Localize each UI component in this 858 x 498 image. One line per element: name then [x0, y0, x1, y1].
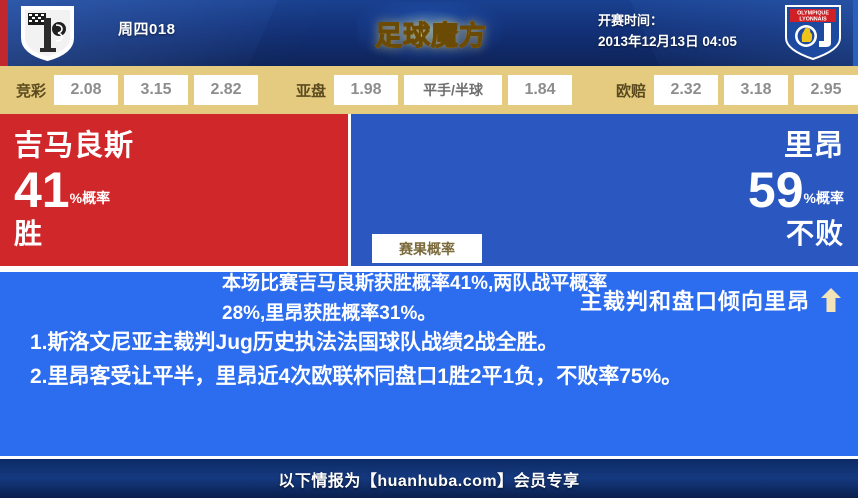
away-probability-result: 不败	[664, 217, 844, 250]
home-probability-result: 胜	[14, 217, 174, 250]
insight-list: 1.斯洛文尼亚主裁判Jug历史执法法国球队战绩2战全胜。 2.里昂客受让平半，里…	[30, 326, 840, 394]
header-bar: 周四018 足球魔方 开赛时间： 2013年12月13日 04:05 OLYMP…	[0, 0, 858, 66]
home-probability-unit: %概率	[70, 190, 110, 206]
home-probability-panel: 吉马良斯 41%概率 胜	[0, 114, 348, 266]
odds-cell[interactable]: 2.08	[54, 75, 118, 105]
brand-logo: 足球魔方	[357, 2, 505, 64]
kickoff-value: 2013年12月13日 04:05	[598, 31, 773, 52]
probability-section: 吉马良斯 41%概率 胜 里昂 59%概率 不败 赛果概率 本场比赛吉马良斯获胜…	[0, 114, 858, 266]
insight-heading: 主裁判和盘口倾向里昂	[580, 284, 810, 316]
away-probability-value: 59	[748, 162, 804, 218]
away-probability-block: 里昂 59%概率 不败	[664, 129, 844, 250]
odds-cell[interactable]: 2.95	[794, 75, 858, 105]
odds-cell[interactable]: 3.15	[124, 75, 188, 105]
odds-group-label: 亚盘	[296, 80, 326, 101]
odds-group-jingcai: 竞彩 2.08 3.15 2.82	[16, 66, 258, 114]
odds-cell[interactable]: 1.84	[508, 75, 572, 105]
list-item: 2.里昂客受让平半，里昂近4次欧联杯同盘口1胜2平1负，不败率75%。	[30, 360, 840, 394]
kickoff-time: 开赛时间： 2013年12月13日 04:05	[598, 10, 773, 52]
home-team-crest-icon	[20, 5, 75, 62]
brand-logo-text: 足球魔方	[375, 14, 487, 53]
arrow-up-icon	[820, 287, 842, 313]
away-probability-unit: %概率	[804, 190, 844, 206]
home-probability-block: 吉马良斯 41%概率 胜	[14, 129, 174, 250]
home-probability-value-row: 41%概率	[14, 165, 174, 215]
footer-bar: 以下情报为【huanhuba.com】会员专享	[0, 459, 858, 498]
odds-group-oupei: 欧赔 2.32 3.18 2.95	[616, 66, 858, 114]
match-preview-card: 周四018 足球魔方 开赛时间： 2013年12月13日 04:05 OLYMP…	[0, 0, 858, 498]
odds-group-yapan: 亚盘 1.98 平手/半球 1.84	[296, 66, 572, 114]
away-team-name: 里昂	[664, 129, 844, 163]
odds-group-label: 欧赔	[616, 80, 646, 101]
home-team-name: 吉马良斯	[14, 129, 174, 163]
svg-text:LYONNAIS: LYONNAIS	[799, 17, 827, 23]
probability-section-tag: 赛果概率	[372, 234, 482, 263]
header-left-red-stripe	[0, 0, 8, 66]
footer-text: 以下情报为【huanhuba.com】会员专享	[278, 467, 579, 491]
home-probability-value: 41	[14, 162, 70, 218]
odds-cell-handicap[interactable]: 平手/半球	[404, 75, 502, 105]
probability-summary-text: 本场比赛吉马良斯获胜概率41%,两队战平概率28%,里昂获胜概率31%。	[222, 269, 612, 329]
odds-bar: 竞彩 2.08 3.15 2.82 亚盘 1.98 平手/半球 1.84 欧赔 …	[0, 66, 858, 114]
match-number: 周四018	[118, 18, 176, 39]
odds-cell[interactable]: 2.82	[194, 75, 258, 105]
odds-group-label: 竞彩	[16, 80, 46, 101]
kickoff-label: 开赛时间：	[598, 10, 773, 31]
away-probability-value-row: 59%概率	[664, 165, 844, 215]
header-right-blue-stripe	[853, 0, 858, 66]
odds-cell[interactable]: 3.18	[724, 75, 788, 105]
odds-cell[interactable]: 1.98	[334, 75, 398, 105]
list-item: 1.斯洛文尼亚主裁判Jug历史执法法国球队战绩2战全胜。	[30, 326, 840, 360]
away-team-crest-icon: OLYMPIQUE LYONNAIS	[782, 4, 844, 62]
odds-cell[interactable]: 2.32	[654, 75, 718, 105]
insight-heading-row: 主裁判和盘口倾向里昂	[580, 284, 842, 316]
